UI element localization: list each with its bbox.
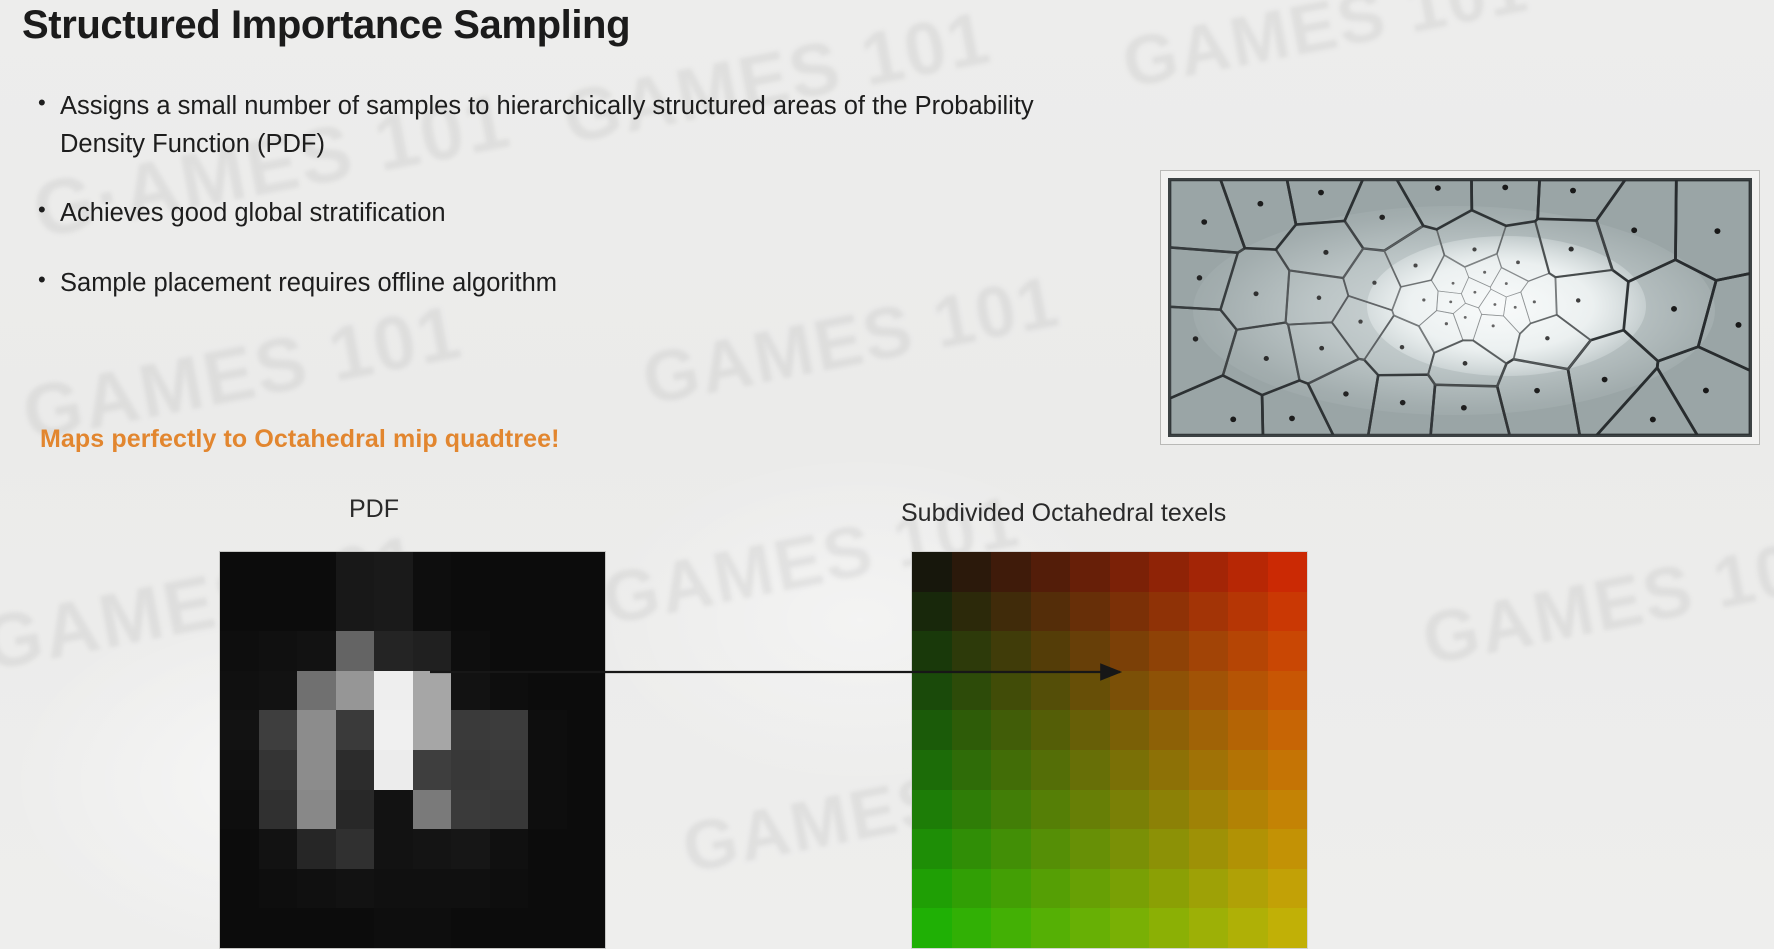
pdf-texel <box>259 592 298 632</box>
voronoi-cell <box>1535 219 1612 277</box>
pdf-texel <box>567 869 606 909</box>
voronoi-cell <box>1392 280 1438 326</box>
octahedral-texel <box>1228 671 1268 711</box>
octahedral-texels-image <box>911 551 1308 949</box>
pdf-texel <box>336 869 375 909</box>
pdf-texel <box>413 592 452 632</box>
voronoi-cell <box>1419 311 1463 353</box>
octahedral-texel <box>1070 552 1110 592</box>
voronoi-cell <box>1555 270 1628 340</box>
pdf-texel <box>490 592 529 632</box>
watermark-text: GAMES 101 <box>1416 520 1774 681</box>
voronoi-seed-point <box>1631 227 1637 233</box>
voronoi-seed-point <box>1379 215 1385 220</box>
octahedral-texel <box>1268 671 1308 711</box>
pdf-texel <box>451 631 490 671</box>
pdf-texel <box>528 790 567 830</box>
pdf-texel <box>528 869 567 909</box>
bullet-marker-icon: • <box>34 265 60 295</box>
watermark-text: GAMES 101 <box>1116 0 1535 103</box>
pdf-texel <box>336 552 375 592</box>
pdf-texel <box>297 750 336 790</box>
pdf-texel <box>259 671 298 711</box>
pdf-texel <box>336 592 375 632</box>
voronoi-cell <box>1431 255 1468 294</box>
voronoi-seed-point <box>1422 298 1425 301</box>
voronoi-cell <box>1514 315 1591 369</box>
octahedral-texel <box>1268 552 1308 592</box>
octahedral-texel <box>912 631 952 671</box>
octahedral-texel <box>1268 592 1308 632</box>
bullet-text: Sample placement requires offline algori… <box>60 265 557 303</box>
voronoi-seed-point <box>1317 296 1322 300</box>
pdf-texel <box>413 829 452 869</box>
pdf-texel <box>374 790 413 830</box>
octahedral-texel <box>1189 829 1229 869</box>
pdf-texel <box>336 710 375 750</box>
voronoi-seed-point <box>1473 291 1476 294</box>
octahedral-texel <box>1189 592 1229 632</box>
voronoi-cell <box>1221 180 1296 250</box>
voronoi-cell <box>1675 180 1750 280</box>
octahedral-texel <box>1189 750 1229 790</box>
pdf-texel <box>259 750 298 790</box>
voronoi-seed-point <box>1452 282 1455 285</box>
pdf-texel <box>567 750 606 790</box>
octahedral-texel <box>1031 908 1071 948</box>
octahedral-texel <box>1149 829 1189 869</box>
octahedral-texel <box>991 908 1031 948</box>
pdf-texel <box>259 552 298 592</box>
octahedral-texel <box>912 710 952 750</box>
voronoi-cell <box>1490 268 1528 297</box>
voronoi-seed-point <box>1289 416 1295 422</box>
octahedral-texel <box>1149 750 1189 790</box>
pdf-texel <box>451 829 490 869</box>
pdf-texel <box>528 750 567 790</box>
voronoi-seed-point <box>1570 188 1576 194</box>
voronoi-seed-point <box>1461 405 1467 411</box>
voronoi-seed-point <box>1472 247 1476 251</box>
voronoi-seed-point <box>1254 291 1259 296</box>
octahedral-texel <box>1070 671 1110 711</box>
octahedral-texel <box>1031 552 1071 592</box>
octahedral-texel <box>1031 869 1071 909</box>
voronoi-cell <box>1308 359 1378 435</box>
pdf-texel <box>374 631 413 671</box>
pdf-texel <box>413 710 452 750</box>
octahedral-texel <box>1149 790 1189 830</box>
pdf-texel <box>220 829 259 869</box>
pdf-texel <box>374 592 413 632</box>
octahedral-texel <box>1110 908 1150 948</box>
octahedral-texel <box>1110 829 1150 869</box>
octahedral-texel <box>1228 829 1268 869</box>
voronoi-cell <box>1287 180 1362 225</box>
voronoi-seed-point <box>1445 322 1448 325</box>
pdf-texel <box>451 750 490 790</box>
octahedral-texel <box>952 869 992 909</box>
octahedral-texel <box>991 592 1031 632</box>
pdf-texel <box>490 710 529 750</box>
octahedral-texel <box>1228 552 1268 592</box>
octahedral-texel <box>1070 631 1110 671</box>
pdf-texel <box>567 671 606 711</box>
pdf-texel <box>413 869 452 909</box>
octahedral-texel <box>991 710 1031 750</box>
pdf-texel <box>413 671 452 711</box>
octahedral-texel <box>1189 671 1229 711</box>
pdf-texel <box>220 631 259 671</box>
pdf-figure-label: PDF <box>349 495 399 524</box>
slide-canvas: G·AMES 101 GAMES 101 GAMES 101 GAMES 101… <box>0 0 1774 949</box>
pdf-texel <box>567 908 606 948</box>
pdf-texel <box>528 710 567 750</box>
octahedral-texel <box>912 552 952 592</box>
voronoi-diagram <box>1168 178 1752 437</box>
voronoi-seed-point <box>1413 264 1417 268</box>
bullet-text: Achieves good global stratification <box>60 195 446 233</box>
octahedral-texel-grid <box>912 552 1307 948</box>
voronoi-seed-point <box>1650 417 1656 423</box>
pdf-texel <box>490 908 529 948</box>
pdf-texel-grid <box>220 552 605 948</box>
pdf-texel <box>297 790 336 830</box>
pdf-texel <box>490 790 529 830</box>
octahedral-texel <box>1268 750 1308 790</box>
pdf-texel <box>374 750 413 790</box>
pdf-texel <box>413 750 452 790</box>
octahedral-texel <box>1031 750 1071 790</box>
pdf-texel <box>567 592 606 632</box>
pdf-texel <box>451 790 490 830</box>
voronoi-seed-point <box>1505 282 1508 285</box>
octahedral-texel <box>1189 869 1229 909</box>
pdf-texel <box>336 631 375 671</box>
octahedral-texel <box>1228 631 1268 671</box>
voronoi-cell <box>1698 273 1750 370</box>
octahedral-texel <box>1228 710 1268 750</box>
octahedral-texel <box>1110 592 1150 632</box>
pdf-texel <box>220 592 259 632</box>
pdf-texel <box>490 869 529 909</box>
octahedral-texel <box>1110 710 1150 750</box>
voronoi-seed-point <box>1714 228 1720 234</box>
pdf-texel <box>297 631 336 671</box>
octahedral-texel <box>952 592 992 632</box>
bullet-list: • Assigns a small number of samples to h… <box>34 88 1124 335</box>
octahedral-texel <box>952 790 992 830</box>
pdf-texel <box>220 908 259 948</box>
octahedral-texel <box>1228 908 1268 948</box>
pdf-texel <box>259 829 298 869</box>
pdf-texel <box>297 869 336 909</box>
pdf-texel <box>490 829 529 869</box>
octahedral-texel <box>1031 790 1071 830</box>
octahedral-texel <box>1110 750 1150 790</box>
pdf-texel <box>297 829 336 869</box>
pdf-texel <box>220 790 259 830</box>
pdf-texel <box>220 552 259 592</box>
voronoi-seed-point <box>1534 388 1540 394</box>
voronoi-cell <box>1479 289 1507 316</box>
voronoi-seed-point <box>1671 306 1677 312</box>
bullet-item: • Achieves good global stratification <box>34 195 1124 233</box>
voronoi-cell <box>1262 380 1333 435</box>
pdf-texel <box>490 552 529 592</box>
voronoi-seed-point <box>1493 303 1496 306</box>
bullet-item: • Sample placement requires offline algo… <box>34 265 1124 303</box>
pdf-texel <box>297 592 336 632</box>
octahedral-texel <box>912 829 952 869</box>
pdf-texel <box>297 908 336 948</box>
pdf-texel <box>528 552 567 592</box>
octahedral-texel <box>1149 631 1189 671</box>
octahedral-texel <box>1031 710 1071 750</box>
pdf-texel <box>528 592 567 632</box>
pdf-texel <box>374 710 413 750</box>
octahedral-texel <box>912 790 952 830</box>
pdf-texel <box>413 790 452 830</box>
voronoi-figure-panel <box>1160 170 1760 445</box>
pdf-texel <box>220 710 259 750</box>
voronoi-seed-point <box>1201 219 1207 225</box>
voronoi-cell <box>1453 303 1481 340</box>
voronoi-seed-point <box>1602 377 1608 383</box>
pdf-texel <box>336 750 375 790</box>
voronoi-seed-point <box>1400 345 1405 349</box>
pdf-texel <box>374 829 413 869</box>
octahedral-texel <box>1031 631 1071 671</box>
octahedral-texel <box>991 829 1031 869</box>
voronoi-seed-point <box>1576 298 1581 302</box>
voronoi-seed-point <box>1197 275 1203 280</box>
voronoi-cell <box>1437 210 1506 267</box>
pdf-texel <box>451 592 490 632</box>
octahedral-texel <box>1031 671 1071 711</box>
voronoi-seed-point <box>1463 361 1468 366</box>
pdf-texel <box>413 552 452 592</box>
octahedral-texel <box>1268 790 1308 830</box>
voronoi-seed-point <box>1257 201 1263 207</box>
octahedral-texel <box>952 908 992 948</box>
pdf-texel <box>528 829 567 869</box>
voronoi-seed-point <box>1703 388 1709 394</box>
voronoi-cell <box>1538 180 1625 221</box>
octahedral-texel <box>1228 592 1268 632</box>
voronoi-seed-point <box>1318 190 1324 196</box>
octahedral-texel <box>1031 829 1071 869</box>
octahedral-texel <box>1070 750 1110 790</box>
pdf-texel <box>451 552 490 592</box>
bullet-text: Assigns a small number of samples to hie… <box>60 88 1050 163</box>
octahedral-texel <box>1070 908 1110 948</box>
voronoi-seed-point <box>1569 247 1574 252</box>
octahedral-texel <box>1070 710 1110 750</box>
voronoi-seed-point <box>1400 400 1406 405</box>
pdf-texel <box>567 790 606 830</box>
slide-title: Structured Importance Sampling <box>22 2 630 48</box>
octahedral-texel <box>952 710 992 750</box>
voronoi-seed-point <box>1343 391 1349 396</box>
octahedral-texel <box>952 750 992 790</box>
pdf-texel <box>297 710 336 750</box>
voronoi-seed-point <box>1502 185 1508 191</box>
pdf-texel <box>297 671 336 711</box>
pdf-texel <box>259 790 298 830</box>
pdf-texel <box>567 552 606 592</box>
voronoi-cell <box>1220 248 1289 330</box>
pdf-texel <box>451 908 490 948</box>
octahedral-texel <box>912 908 952 948</box>
octahedral-texel <box>912 592 952 632</box>
octahedral-texel <box>1149 592 1189 632</box>
octahedral-texel <box>991 869 1031 909</box>
pdf-texel <box>413 908 452 948</box>
pdf-texel <box>528 908 567 948</box>
voronoi-cell <box>1384 226 1444 287</box>
octahedral-texel <box>1189 710 1229 750</box>
pdf-texel <box>259 908 298 948</box>
pdf-texel <box>567 631 606 671</box>
octahedral-texel <box>952 552 992 592</box>
octahedral-texel <box>1228 750 1268 790</box>
bullet-marker-icon: • <box>34 88 60 118</box>
voronoi-seed-point <box>1323 250 1328 255</box>
pdf-texel <box>336 908 375 948</box>
pdf-texel <box>567 829 606 869</box>
octahedral-texel <box>952 671 992 711</box>
voronoi-seed-point <box>1533 300 1536 303</box>
octahedral-texel <box>1149 671 1189 711</box>
voronoi-cell <box>1624 260 1717 362</box>
pdf-texel <box>374 671 413 711</box>
voronoi-seed-point <box>1449 300 1452 303</box>
voronoi-cell <box>1397 180 1472 229</box>
octahedral-texel <box>1149 710 1189 750</box>
octahedral-texel <box>991 750 1031 790</box>
voronoi-cell <box>1288 322 1359 383</box>
pdf-texel <box>336 671 375 711</box>
pdf-texel <box>220 671 259 711</box>
octahedral-texel <box>1110 631 1150 671</box>
octahedral-texel <box>1149 552 1189 592</box>
octahedral-texel <box>1268 869 1308 909</box>
callout-text: Maps perfectly to Octahedral mip quadtre… <box>40 425 560 454</box>
octahedral-texel <box>1110 671 1150 711</box>
voronoi-seed-point <box>1492 324 1495 327</box>
voronoi-seed-point <box>1464 316 1467 319</box>
octahedral-texel <box>991 790 1031 830</box>
pdf-texture-image <box>219 551 606 949</box>
bullet-marker-icon: • <box>34 195 60 225</box>
voronoi-seed-point <box>1516 261 1520 265</box>
pdf-texel <box>451 710 490 750</box>
octahedral-texel <box>1268 829 1308 869</box>
octahedral-texel <box>952 829 992 869</box>
voronoi-seed-point <box>1264 356 1269 361</box>
octahedral-texel <box>1189 631 1229 671</box>
voronoi-seed-point <box>1372 281 1376 285</box>
voronoi-seed-point <box>1514 306 1517 309</box>
octahedral-texel <box>1070 869 1110 909</box>
octahedral-texel <box>1268 631 1308 671</box>
pdf-texel <box>336 829 375 869</box>
octahedral-texel <box>1149 869 1189 909</box>
octahedral-texel <box>1110 790 1150 830</box>
pdf-texel <box>490 631 529 671</box>
pdf-texel <box>374 908 413 948</box>
voronoi-seed-point <box>1230 417 1236 423</box>
pdf-texel <box>490 671 529 711</box>
octahedral-texel <box>1070 829 1110 869</box>
voronoi-seed-point <box>1545 336 1549 340</box>
pdf-texel <box>567 710 606 750</box>
octahedral-texel <box>952 631 992 671</box>
voronoi-seed-point <box>1319 346 1324 351</box>
voronoi-cell <box>1343 248 1401 310</box>
voronoi-cell <box>1170 247 1238 309</box>
pdf-texel <box>336 790 375 830</box>
pdf-texel <box>528 631 567 671</box>
octahedral-texel <box>1228 790 1268 830</box>
pdf-texel <box>374 552 413 592</box>
pdf-texel <box>220 869 259 909</box>
octahedral-texel <box>1031 592 1071 632</box>
octahedral-texel <box>1268 908 1308 948</box>
pdf-texel <box>528 671 567 711</box>
octahedral-texel <box>991 631 1031 671</box>
voronoi-cell <box>1170 375 1263 435</box>
octahedral-texel <box>991 552 1031 592</box>
octahedral-texel <box>1070 592 1110 632</box>
octahedral-texel <box>1110 869 1150 909</box>
voronoi-cell <box>1597 368 1697 435</box>
octahedral-texel <box>1189 552 1229 592</box>
octahedral-texel <box>991 671 1031 711</box>
voronoi-seed-point <box>1193 336 1199 341</box>
octahedral-texel <box>1189 790 1229 830</box>
voronoi-seed-point <box>1483 271 1486 274</box>
voronoi-seed-point <box>1358 320 1362 324</box>
octahedral-texel <box>1149 908 1189 948</box>
pdf-texel <box>297 552 336 592</box>
octahedral-texel <box>912 869 952 909</box>
octahedral-texel <box>1228 869 1268 909</box>
octahedral-texel <box>912 671 952 711</box>
bullet-item: • Assigns a small number of samples to h… <box>34 88 1124 163</box>
pdf-texel <box>259 631 298 671</box>
pdf-texel <box>451 869 490 909</box>
pdf-texel <box>490 750 529 790</box>
voronoi-seed-point <box>1435 185 1441 191</box>
pdf-texel <box>451 671 490 711</box>
octahedral-texel <box>1268 710 1308 750</box>
texels-figure-label: Subdivided Octahedral texels <box>901 499 1226 528</box>
voronoi-cell <box>1497 359 1579 435</box>
voronoi-seed-point <box>1736 322 1742 328</box>
pdf-texel <box>374 869 413 909</box>
pdf-texel <box>413 631 452 671</box>
octahedral-texel <box>912 750 952 790</box>
pdf-texel <box>259 710 298 750</box>
pdf-texel <box>220 750 259 790</box>
pdf-texel <box>259 869 298 909</box>
voronoi-cells-svg <box>1170 180 1750 435</box>
octahedral-texel <box>1070 790 1110 830</box>
octahedral-texel <box>1189 908 1229 948</box>
octahedral-texel <box>1110 552 1150 592</box>
